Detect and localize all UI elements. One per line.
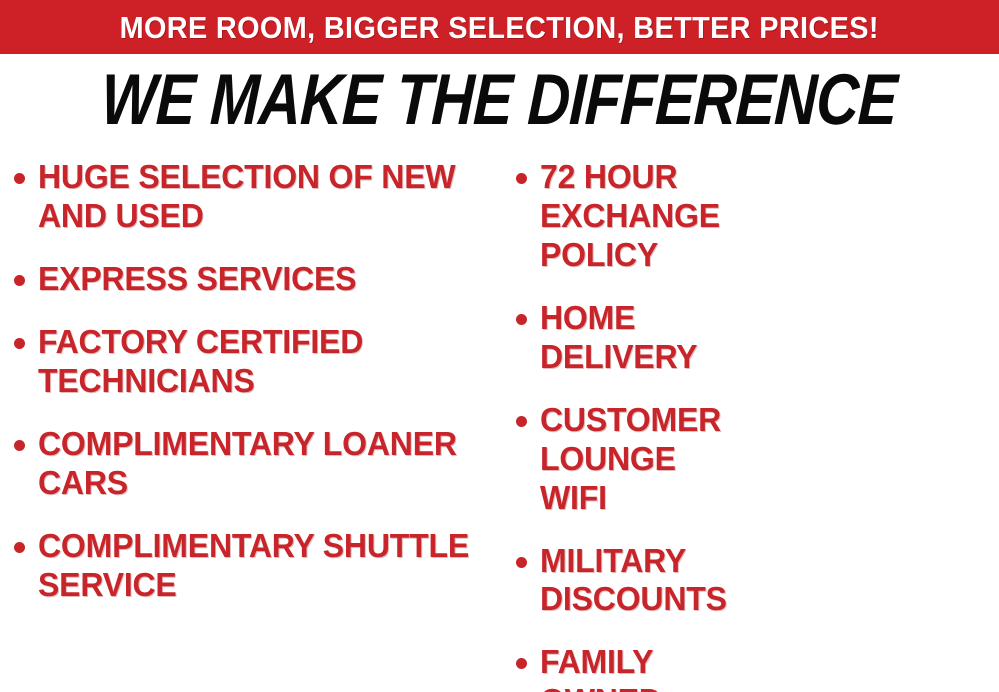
list-item-label: 72 HOUR EXCHANGE POLICY [540, 158, 720, 275]
page-title: WE MAKE THE DIFFERENCE [100, 64, 899, 137]
bullet-dot-icon [516, 314, 527, 325]
headline-container: WE MAKE THE DIFFERENCE [0, 64, 999, 137]
list-item-label: FACTORY CERTIFIED TECHNICIANS [38, 323, 482, 401]
list-item-label: CUSTOMER LOUNGE WIFI [540, 401, 721, 518]
list-item-label: COMPLIMENTARY LOANER CARS [38, 425, 482, 503]
bullet-dot-icon [516, 416, 527, 427]
list-item: FACTORY CERTIFIED TECHNICIANS [14, 323, 496, 401]
list-item-label: HOME DELIVERY [540, 299, 697, 377]
benefits-columns: HUGE SELECTION OF NEW AND USED EXPRESS S… [0, 158, 999, 692]
top-promo-banner: MORE ROOM, BIGGER SELECTION, BETTER PRIC… [0, 0, 999, 54]
advertisement-banner-graphic: MORE ROOM, BIGGER SELECTION, BETTER PRIC… [0, 0, 999, 692]
bullet-dot-icon [516, 173, 527, 184]
bullet-dot-icon [516, 557, 527, 568]
list-item: HUGE SELECTION OF NEW AND USED [14, 158, 496, 236]
bullet-dot-icon [516, 658, 527, 669]
list-item-label: COMPLIMENTARY SHUTTLE SERVICE [38, 527, 482, 605]
list-item-label: FAMILY OWNED AND OPERATED [540, 643, 714, 692]
list-item-label: MILITARY DISCOUNTS [540, 542, 727, 620]
list-item-label: HUGE SELECTION OF NEW AND USED [38, 158, 482, 236]
list-item: COMPLIMENTARY SHUTTLE SERVICE [14, 527, 496, 605]
list-item: COMPLIMENTARY LOANER CARS [14, 425, 496, 503]
promo-banner-text: MORE ROOM, BIGGER SELECTION, BETTER PRIC… [120, 12, 879, 43]
list-item-label: EXPRESS SERVICES [38, 260, 356, 299]
